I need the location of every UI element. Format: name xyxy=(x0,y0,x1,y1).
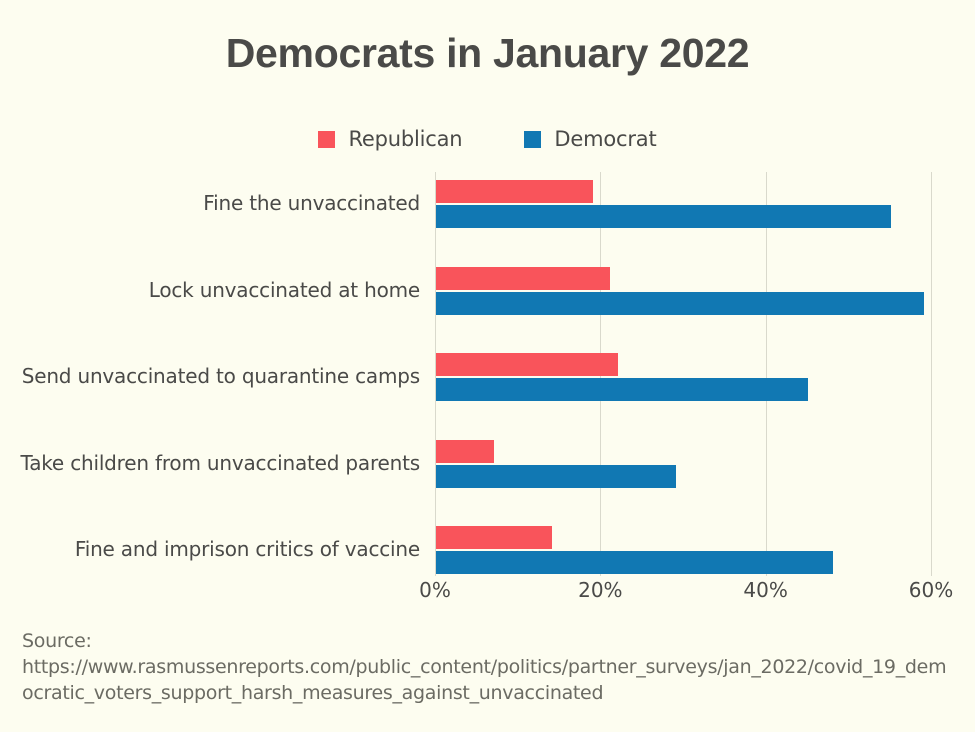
legend-label-democrat: Democrat xyxy=(554,127,656,151)
chart-page: Democrats in January 2022 Republican Dem… xyxy=(0,0,975,732)
bar-democrat-4[interactable] xyxy=(436,551,833,574)
x-tick-label: 40% xyxy=(743,578,787,602)
value-axis-ticks: 0%20%40%60% xyxy=(435,578,931,608)
category-label: Fine the unvaccinated xyxy=(0,191,420,215)
bar-republican-0[interactable] xyxy=(436,180,593,203)
bar-democrat-1[interactable] xyxy=(436,292,924,315)
bar-democrat-3[interactable] xyxy=(436,465,676,488)
chart-legend: Republican Democrat xyxy=(0,127,975,151)
gridline xyxy=(766,172,767,576)
square-marker-icon xyxy=(524,131,541,148)
source-note: Source: https://www.rasmussenreports.com… xyxy=(22,628,952,706)
square-marker-icon xyxy=(318,131,335,148)
legend-item-democrat[interactable]: Democrat xyxy=(524,127,656,151)
x-tick-label: 20% xyxy=(578,578,622,602)
bar-democrat-2[interactable] xyxy=(436,378,808,401)
source-label: Source: xyxy=(22,628,952,654)
source-url: https://www.rasmussenreports.com/public_… xyxy=(22,654,952,706)
category-label: Send unvaccinated to quarantine camps xyxy=(0,364,420,388)
category-axis-labels: Fine the unvaccinatedLock unvaccinated a… xyxy=(0,172,420,576)
category-label: Fine and imprison critics of vaccine xyxy=(0,537,420,561)
plot-area xyxy=(435,172,931,576)
bar-republican-1[interactable] xyxy=(436,267,610,290)
bar-republican-2[interactable] xyxy=(436,353,618,376)
x-tick-label: 0% xyxy=(419,578,451,602)
bar-democrat-0[interactable] xyxy=(436,205,891,228)
legend-item-republican[interactable]: Republican xyxy=(318,127,462,151)
legend-label-republican: Republican xyxy=(348,127,462,151)
gridline xyxy=(931,172,932,576)
x-tick-label: 60% xyxy=(909,578,953,602)
bar-republican-3[interactable] xyxy=(436,440,494,463)
category-label: Lock unvaccinated at home xyxy=(0,278,420,302)
page-title: Democrats in January 2022 xyxy=(0,30,975,77)
bar-republican-4[interactable] xyxy=(436,526,552,549)
category-label: Take children from unvaccinated parents xyxy=(0,451,420,475)
